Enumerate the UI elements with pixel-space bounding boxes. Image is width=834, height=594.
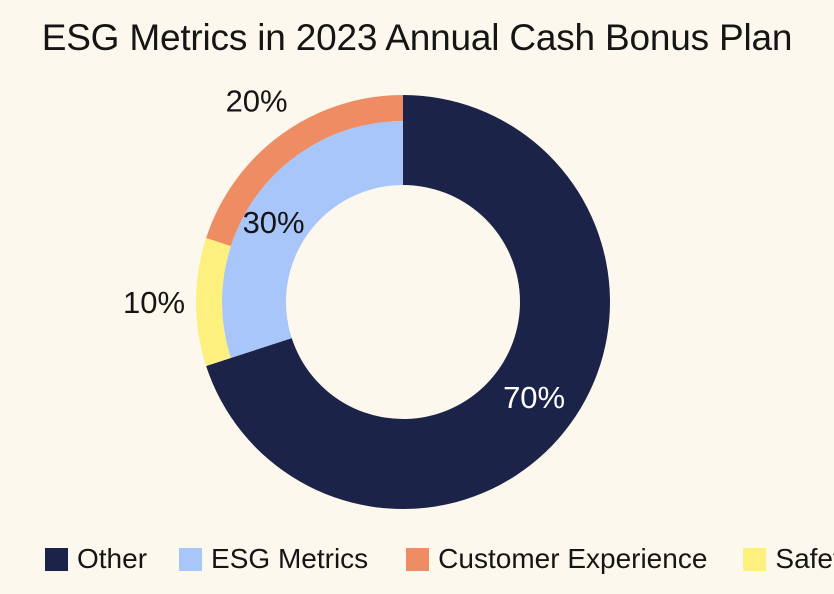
slice-label-esg-metrics: 30% — [243, 205, 305, 240]
donut-chart: 70% 30% 20% 10% — [0, 0, 834, 594]
legend-swatch-icon-safety — [743, 548, 766, 571]
legend-label-safety: Safety — [775, 545, 834, 573]
legend-swatch-icon-customer-experience — [406, 548, 429, 571]
legend-label-esg-metrics: ESG Metrics — [211, 545, 368, 573]
legend-swatch-icon-esg-metrics — [179, 548, 202, 571]
slice-label-customer-experience: 20% — [226, 84, 288, 119]
slice-label-other: 70% — [503, 380, 565, 415]
chart-page: ESG Metrics in 2023 Annual Cash Bonus Pl… — [0, 0, 834, 594]
legend-item-esg-metrics[interactable]: ESG Metrics — [179, 545, 368, 573]
legend-item-other[interactable]: Other — [45, 545, 147, 573]
donut-chart-svg: 70% 30% 20% 10% — [0, 0, 834, 594]
legend-item-customer-experience[interactable]: Customer Experience — [406, 545, 707, 573]
slice-label-safety: 10% — [123, 285, 185, 320]
legend-label-other: Other — [77, 545, 147, 573]
legend-item-safety[interactable]: Safety — [743, 545, 834, 573]
legend-swatch-icon-other — [45, 548, 68, 571]
chart-legend: Other ESG Metrics Customer Experience Sa… — [0, 535, 834, 583]
legend-label-customer-experience: Customer Experience — [438, 545, 707, 573]
